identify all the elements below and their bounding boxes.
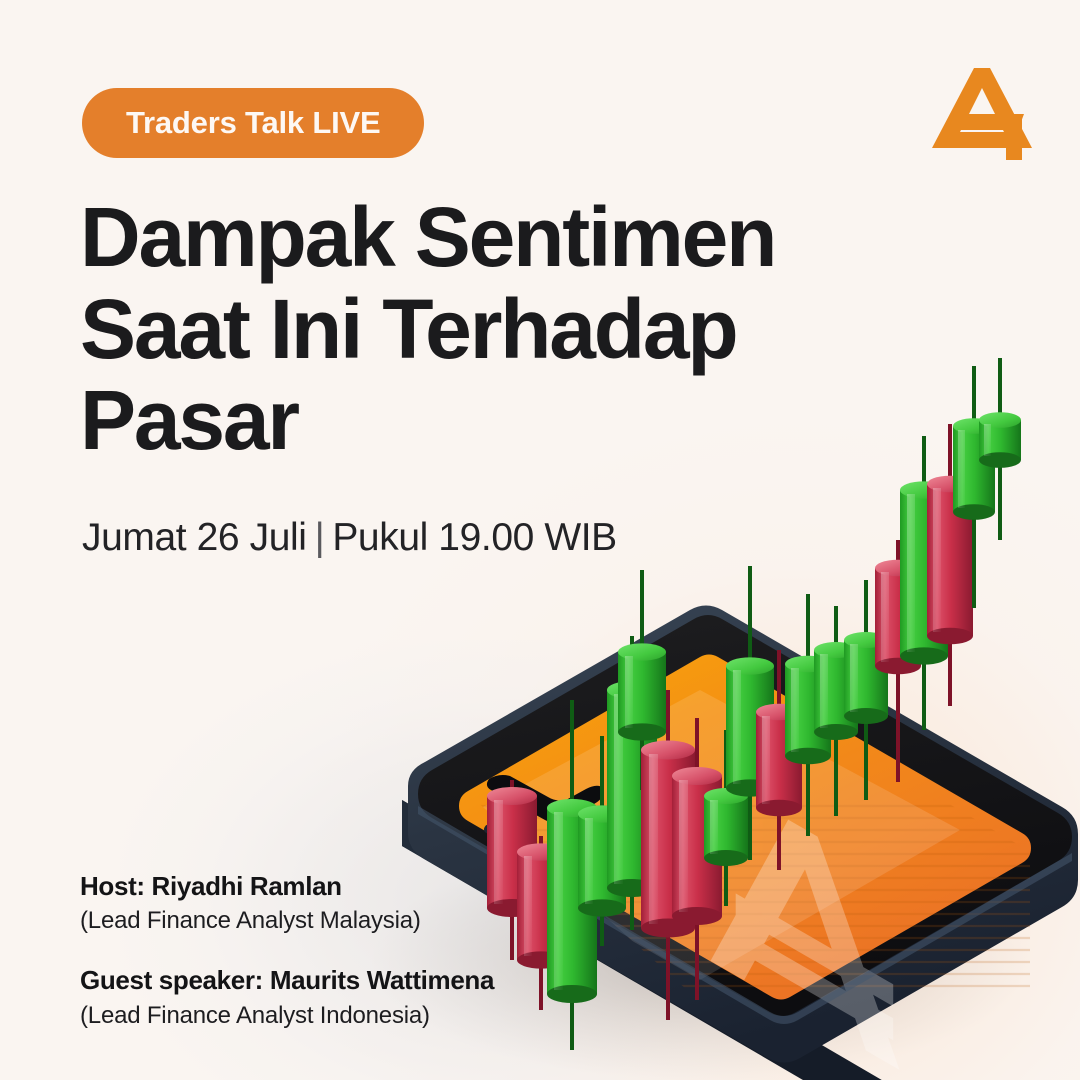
candle-6	[618, 570, 666, 790]
candle-10	[726, 566, 774, 860]
volume-button	[483, 823, 527, 854]
a-logo-watermark	[711, 775, 900, 1070]
datetime-separator: |	[307, 516, 333, 559]
candle-14	[844, 580, 888, 800]
candle-18	[953, 366, 995, 608]
headline-line-1: Dampak Sentimen	[80, 192, 840, 284]
candle-12	[785, 594, 831, 836]
host-role: (Lead Finance Analyst Malaysia)	[80, 905, 640, 937]
host-block: Host: Riyadhi Ramlan (Lead Finance Analy…	[80, 870, 640, 938]
event-date: Jumat 26 Juli	[82, 516, 307, 559]
headline-line-3: Pasar	[80, 375, 840, 467]
brand-a-logo-icon	[928, 62, 1036, 162]
candle-13	[814, 606, 858, 816]
guest-speaker-block: Guest speaker: Maurits Wattimena (Lead F…	[80, 964, 640, 1032]
candle-17	[927, 424, 973, 706]
candle-7	[641, 690, 695, 1020]
host-name: Host: Riyadhi Ramlan	[80, 870, 640, 904]
candle-9	[704, 730, 748, 906]
page-title: Dampak Sentimen Saat Ini Terhadap Pasar	[80, 192, 840, 467]
traders-talk-live-badge[interactable]: Traders Talk LIVE	[82, 88, 424, 158]
phone-notch	[487, 775, 604, 823]
badge-label: Traders Talk LIVE	[126, 105, 380, 141]
candle-11	[756, 650, 802, 870]
speakers-section: Host: Riyadhi Ramlan (Lead Finance Analy…	[80, 870, 640, 1032]
poster-canvas: Traders Talk LIVE Dampak Sentimen Saat I…	[0, 0, 1080, 1080]
event-time: Pukul 19.00 WIB	[332, 516, 616, 559]
candle-15	[875, 540, 921, 782]
candle-8	[672, 718, 722, 1000]
power-button	[526, 848, 556, 871]
guest-speaker-role: (Lead Finance Analyst Indonesia)	[80, 1000, 640, 1032]
guest-speaker-name: Guest speaker: Maurits Wattimena	[80, 964, 640, 998]
event-datetime: Jumat 26 Juli|Pukul 19.00 WIB	[82, 516, 617, 560]
headline-line-2: Saat Ini Terhadap	[80, 284, 840, 376]
candle-16	[900, 436, 948, 730]
candle-19	[979, 358, 1021, 540]
